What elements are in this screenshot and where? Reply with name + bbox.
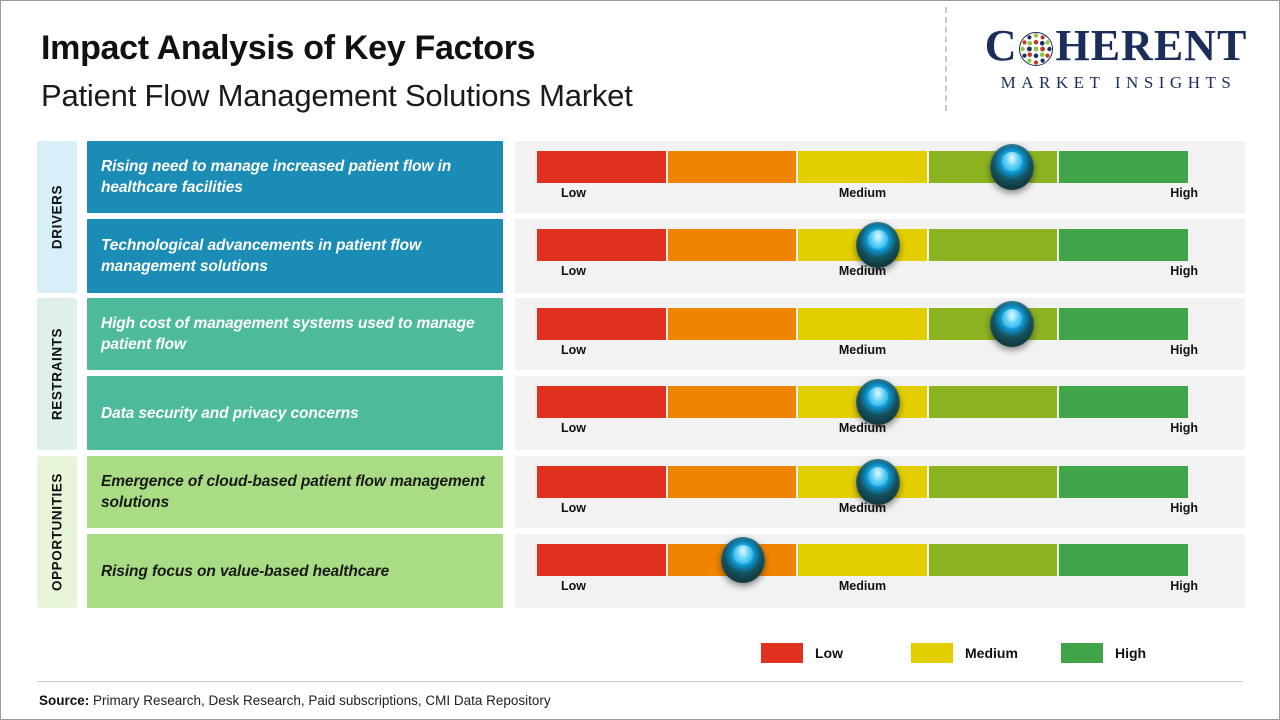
- scale-label-high-4: High: [1170, 421, 1198, 435]
- factor-text-4: Data security and privacy concerns: [101, 403, 359, 424]
- factor-text-3: High cost of management systems used to …: [101, 313, 489, 355]
- gauge-segment-midhigh: [929, 544, 1058, 576]
- gauge-segment-lowmid: [668, 466, 797, 498]
- legend: Low Medium High: [761, 643, 1211, 663]
- category-label-opportunities: OPPORTUNITIES: [50, 473, 65, 591]
- legend-item-medium: Medium: [911, 643, 1061, 663]
- legend-swatch-low: [761, 643, 803, 663]
- scale-label-high-5: High: [1170, 501, 1198, 515]
- scale-label-low-6: Low: [561, 579, 586, 593]
- legend-swatch-high: [1061, 643, 1103, 663]
- factor-text-1: Rising need to manage increased patient …: [101, 156, 489, 198]
- scale-label-medium-1: Medium: [839, 186, 886, 200]
- gauge-marker-5[interactable]: [856, 459, 900, 505]
- factor-card-1[interactable]: Rising need to manage increased patient …: [87, 141, 503, 213]
- scale-label-medium-3: Medium: [839, 343, 886, 357]
- category-strip-opportunities: OPPORTUNITIES: [37, 456, 77, 608]
- gauge-row-2: Low Medium High: [515, 219, 1245, 293]
- gauge-segment-lowmid: [668, 386, 797, 418]
- gauge-marker-2[interactable]: [856, 222, 900, 268]
- page-subtitle: Patient Flow Management Solutions Market: [41, 75, 633, 117]
- scale-label-low-3: Low: [561, 343, 586, 357]
- gauge-segment-midhigh: [929, 229, 1058, 261]
- scale-label-low-5: Low: [561, 501, 586, 515]
- gauge-segment-midhigh: [929, 386, 1058, 418]
- gauge-scale-5: Low Medium High: [537, 501, 1188, 521]
- gauge-segment-medium: [798, 151, 927, 183]
- category-strip-restraints: RESTRAINTS: [37, 298, 77, 450]
- slide-canvas: Impact Analysis of Key Factors Patient F…: [0, 0, 1280, 720]
- gauge-segment-medium: [798, 308, 927, 340]
- factor-card-5[interactable]: Emergence of cloud-based patient flow ma…: [87, 456, 503, 528]
- factor-card-2[interactable]: Technological advancements in patient fl…: [87, 219, 503, 293]
- gauge-row-4: Low Medium High: [515, 376, 1245, 450]
- gauge-track-1[interactable]: [537, 151, 1188, 183]
- gauge-segment-low: [537, 308, 666, 340]
- gauge-segment-low: [537, 151, 666, 183]
- legend-item-high: High: [1061, 643, 1211, 663]
- factor-card-3[interactable]: High cost of management systems used to …: [87, 298, 503, 370]
- source-label: Source:: [39, 693, 89, 708]
- header: Impact Analysis of Key Factors Patient F…: [1, 1, 1279, 131]
- gauge-marker-1[interactable]: [990, 144, 1034, 190]
- gauge-row-5: Low Medium High: [515, 456, 1245, 528]
- factor-text-6: Rising focus on value-based healthcare: [101, 561, 389, 582]
- source-line: Source: Primary Research, Desk Research,…: [39, 693, 551, 708]
- gauge-segment-low: [537, 466, 666, 498]
- globe-dots-icon: [1018, 30, 1054, 66]
- gauge-track-3[interactable]: [537, 308, 1188, 340]
- gauge-marker-4[interactable]: [856, 379, 900, 425]
- legend-label-high: High: [1115, 645, 1146, 661]
- gauge-marker-3[interactable]: [990, 301, 1034, 347]
- logo-wordmark: C: [961, 23, 1271, 69]
- gauge-segment-high: [1059, 386, 1188, 418]
- scale-label-high-6: High: [1170, 579, 1198, 593]
- category-label-drivers: DRIVERS: [50, 185, 65, 249]
- gauge-scale-1: Low Medium High: [537, 186, 1188, 206]
- legend-label-medium: Medium: [965, 645, 1018, 661]
- gauge-row-3: Low Medium High: [515, 298, 1245, 370]
- scale-label-high-3: High: [1170, 343, 1198, 357]
- gauge-segment-low: [537, 386, 666, 418]
- gauge-scale-6: Low Medium High: [537, 579, 1188, 599]
- gauge-segment-lowmid: [668, 308, 797, 340]
- gauge-segment-high: [1059, 544, 1188, 576]
- category-strip-drivers: DRIVERS: [37, 141, 77, 293]
- page-title: Impact Analysis of Key Factors: [41, 27, 633, 69]
- gauge-track-6[interactable]: [537, 544, 1188, 576]
- brand-logo: C: [961, 23, 1271, 93]
- scale-label-medium-6: Medium: [839, 579, 886, 593]
- factor-text-5: Emergence of cloud-based patient flow ma…: [101, 471, 489, 513]
- gauge-segment-high: [1059, 229, 1188, 261]
- source-text: Primary Research, Desk Research, Paid su…: [89, 693, 550, 708]
- header-divider: [945, 7, 947, 111]
- logo-letter-c: C: [985, 23, 1018, 69]
- gauge-segment-lowmid: [668, 229, 797, 261]
- gauge-row-6: Low Medium High: [515, 534, 1245, 608]
- logo-tagline: MARKET INSIGHTS: [961, 73, 1271, 93]
- gauge-scale-4: Low Medium High: [537, 421, 1188, 441]
- factor-card-6[interactable]: Rising focus on value-based healthcare: [87, 534, 503, 608]
- gauge-segment-low: [537, 544, 666, 576]
- gauge-segment-high: [1059, 151, 1188, 183]
- gauge-segment-high: [1059, 308, 1188, 340]
- legend-label-low: Low: [815, 645, 843, 661]
- gauge-marker-6[interactable]: [721, 537, 765, 583]
- gauge-scale-2: Low Medium High: [537, 264, 1188, 284]
- gauge-segment-lowmid: [668, 151, 797, 183]
- gauge-segment-high: [1059, 466, 1188, 498]
- logo-word-herent: HERENT: [1055, 23, 1247, 69]
- category-label-restraints: RESTRAINTS: [50, 328, 65, 420]
- title-block: Impact Analysis of Key Factors Patient F…: [41, 27, 633, 117]
- scale-label-low-2: Low: [561, 264, 586, 278]
- gauge-segment-medium: [798, 544, 927, 576]
- scale-label-high-2: High: [1170, 264, 1198, 278]
- gauge-segment-low: [537, 229, 666, 261]
- gauge-segment-midhigh: [929, 466, 1058, 498]
- legend-swatch-medium: [911, 643, 953, 663]
- scale-label-low-1: Low: [561, 186, 586, 200]
- gauge-row-1: Low Medium High: [515, 141, 1245, 213]
- factor-text-2: Technological advancements in patient fl…: [101, 235, 489, 277]
- scale-label-low-4: Low: [561, 421, 586, 435]
- legend-item-low: Low: [761, 643, 911, 663]
- footer-divider: [37, 681, 1243, 682]
- scale-label-high-1: High: [1170, 186, 1198, 200]
- gauge-scale-3: Low Medium High: [537, 343, 1188, 363]
- factor-card-4[interactable]: Data security and privacy concerns: [87, 376, 503, 450]
